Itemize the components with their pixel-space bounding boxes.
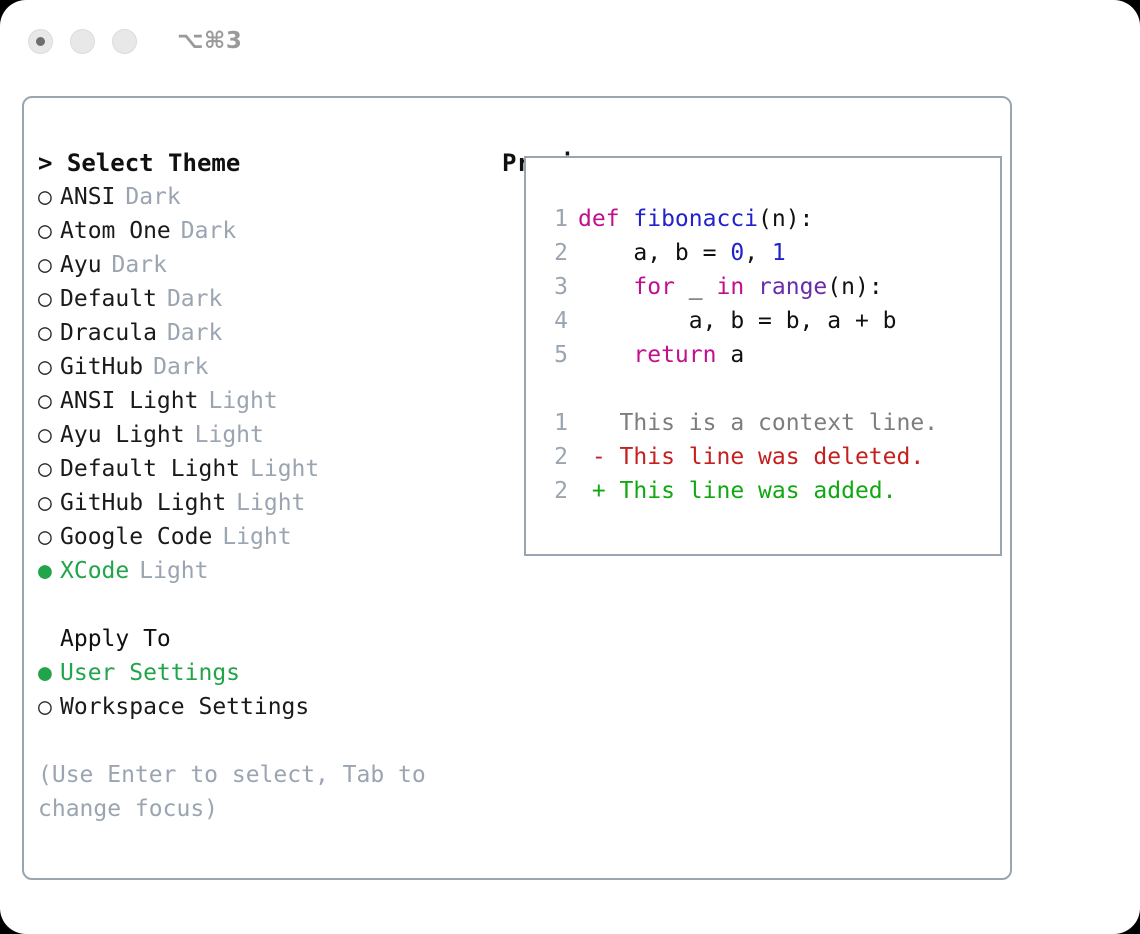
- theme-name: Default Light: [60, 452, 240, 486]
- radio-empty-icon: ○: [38, 418, 60, 452]
- theme-option-google-code[interactable]: ○Google CodeLight: [38, 520, 488, 554]
- code-token-pun: [578, 342, 633, 368]
- code-token-pun: [744, 274, 758, 300]
- theme-mode-tag: Dark: [125, 180, 180, 214]
- theme-mode-tag: Light: [195, 418, 264, 452]
- theme-option-default[interactable]: ○DefaultDark: [38, 282, 488, 316]
- theme-name: Atom One: [60, 214, 171, 248]
- code-preview: 1def fibonacci(n):2 a, b = 0, 13 for _ i…: [542, 202, 938, 508]
- radio-empty-icon: ○: [38, 214, 60, 248]
- radio-empty-icon: ○: [38, 452, 60, 486]
- theme-mode-tag: Light: [222, 520, 291, 554]
- apply-to-list: ●User Settings○Workspace Settings: [38, 656, 488, 724]
- line-number: 1: [542, 202, 568, 236]
- radio-empty-icon: ○: [38, 350, 60, 384]
- diff-line-context: 1 This is a context line.: [542, 406, 938, 440]
- theme-name: Default: [60, 282, 157, 316]
- line-number: 1: [542, 406, 568, 440]
- radio-empty-icon: ○: [38, 520, 60, 554]
- radio-selected-icon: ●: [38, 656, 60, 690]
- line-number: 3: [542, 270, 568, 304]
- apply-to-option-workspace-settings[interactable]: ○Workspace Settings: [38, 690, 488, 724]
- theme-mode-tag: Dark: [167, 282, 222, 316]
- theme-name: ANSI Light: [60, 384, 198, 418]
- recording-dot-icon: [36, 37, 45, 46]
- radio-selected-icon: ●: [38, 554, 60, 588]
- code-token-pun: (n):: [758, 206, 813, 232]
- code-token-kw: for: [633, 274, 675, 300]
- line-number: 4: [542, 304, 568, 338]
- code-token-num: 1: [772, 240, 786, 266]
- diff-line-added: 2 + This line was added.: [542, 474, 938, 508]
- code-line: 2 a, b = 0, 1: [542, 236, 938, 270]
- code-token-kw: return: [633, 342, 716, 368]
- code-token-id: a: [716, 342, 744, 368]
- keyboard-shortcut-label: ⌥⌘3: [177, 28, 242, 54]
- diff-marker: +: [578, 478, 620, 504]
- keyboard-hint-text: (Use Enter to select, Tab to change focu…: [38, 758, 458, 826]
- theme-name: Google Code: [60, 520, 212, 554]
- theme-mode-tag: Dark: [112, 248, 167, 282]
- theme-option-ansi-light[interactable]: ○ANSI LightLight: [38, 384, 488, 418]
- radio-empty-icon: ○: [38, 248, 60, 282]
- theme-mode-tag: Light: [250, 452, 319, 486]
- code-token-kw: def: [578, 206, 633, 232]
- radio-empty-icon: ○: [38, 384, 60, 418]
- diff-text: This is a context line.: [620, 410, 939, 436]
- radio-empty-icon: ○: [38, 180, 60, 214]
- theme-mode-tag: Light: [236, 486, 305, 520]
- theme-name: Ayu: [60, 248, 102, 282]
- code-diff-separator: [542, 372, 938, 406]
- apply-to-label: Workspace Settings: [60, 690, 309, 724]
- code-line: 4 a, b = b, a + b: [542, 304, 938, 338]
- theme-list: ○ANSIDark○Atom OneDark○AyuDark○DefaultDa…: [38, 180, 488, 588]
- theme-option-dracula[interactable]: ○DraculaDark: [38, 316, 488, 350]
- theme-option-default-light[interactable]: ○Default LightLight: [38, 452, 488, 486]
- theme-name: XCode: [60, 554, 129, 588]
- theme-name: GitHub: [60, 350, 143, 384]
- window-control-2-icon[interactable]: [70, 29, 95, 54]
- title-bar: ⌥⌘3: [0, 0, 1140, 82]
- recording-indicator-icon[interactable]: [28, 29, 53, 54]
- theme-name: Dracula: [60, 316, 157, 350]
- theme-mode-tag: Light: [139, 554, 208, 588]
- theme-option-atom-one[interactable]: ○Atom OneDark: [38, 214, 488, 248]
- code-token-call: range: [758, 274, 827, 300]
- preview-box: 1def fibonacci(n):2 a, b = 0, 13 for _ i…: [524, 156, 1002, 556]
- diff-text: This line was deleted.: [620, 444, 925, 470]
- line-number: 2: [542, 236, 568, 270]
- theme-picker-column: > Select Theme ○ANSIDark○Atom OneDark○Ay…: [38, 146, 488, 826]
- code-token-id: a, b =: [578, 240, 730, 266]
- theme-mode-tag: Dark: [167, 316, 222, 350]
- line-number: 5: [542, 338, 568, 372]
- code-line: 3 for _ in range(n):: [542, 270, 938, 304]
- code-token-id: a, b = b, a + b: [578, 308, 897, 334]
- apply-to-label: User Settings: [60, 656, 240, 690]
- select-theme-header: > Select Theme: [38, 146, 488, 180]
- theme-name: ANSI: [60, 180, 115, 214]
- code-line: 5 return a: [542, 338, 938, 372]
- line-number: 2: [542, 440, 568, 474]
- diff-marker: [578, 410, 620, 436]
- hint-spacer: [38, 724, 488, 758]
- code-token-pun: [578, 274, 633, 300]
- theme-option-xcode[interactable]: ●XCodeLight: [38, 554, 488, 588]
- theme-mode-tag: Dark: [181, 214, 236, 248]
- theme-mode-tag: Light: [208, 384, 277, 418]
- list-spacer: [38, 588, 488, 622]
- theme-mode-tag: Dark: [153, 350, 208, 384]
- window-control-3-icon[interactable]: [112, 29, 137, 54]
- apply-to-option-user-settings[interactable]: ●User Settings: [38, 656, 488, 690]
- radio-empty-icon: ○: [38, 486, 60, 520]
- theme-option-ayu-light[interactable]: ○Ayu LightLight: [38, 418, 488, 452]
- theme-option-github[interactable]: ○GitHubDark: [38, 350, 488, 384]
- theme-option-ansi[interactable]: ○ANSIDark: [38, 180, 488, 214]
- radio-empty-icon: ○: [38, 316, 60, 350]
- diff-text: This line was added.: [620, 478, 897, 504]
- theme-option-ayu[interactable]: ○AyuDark: [38, 248, 488, 282]
- diff-line-deleted: 2 - This line was deleted.: [542, 440, 938, 474]
- diff-marker: -: [578, 444, 620, 470]
- code-token-kw: in: [716, 274, 744, 300]
- code-token-pun: (n):: [827, 274, 882, 300]
- window-controls: [28, 29, 137, 54]
- theme-name: GitHub Light: [60, 486, 226, 520]
- code-token-pun: ,: [744, 240, 772, 266]
- code-line: 1def fibonacci(n):: [542, 202, 938, 236]
- main-panel: > Select Theme ○ANSIDark○Atom OneDark○Ay…: [22, 96, 1012, 880]
- code-token-id: _: [675, 274, 717, 300]
- line-number: 2: [542, 474, 568, 508]
- radio-empty-icon: ○: [38, 282, 60, 316]
- code-token-num: 0: [730, 240, 744, 266]
- code-token-fn: fibonacci: [633, 206, 758, 232]
- app-window: ⌥⌘3 > Select Theme ○ANSIDark○Atom OneDar…: [0, 0, 1140, 934]
- theme-name: Ayu Light: [60, 418, 185, 452]
- apply-to-header: Apply To: [38, 622, 488, 656]
- radio-empty-icon: ○: [38, 690, 60, 724]
- theme-option-github-light[interactable]: ○GitHub LightLight: [38, 486, 488, 520]
